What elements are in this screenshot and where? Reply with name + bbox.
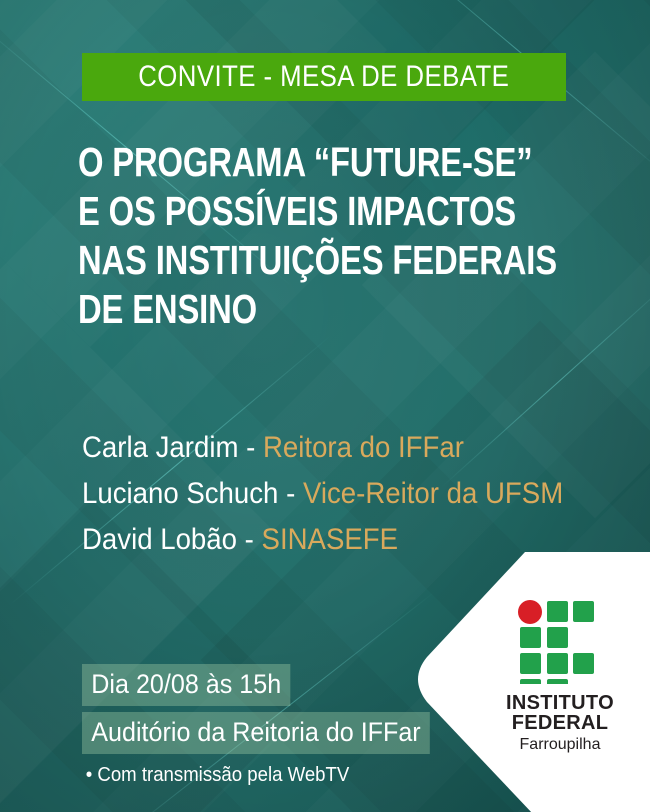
invite-banner: CONVITE - MESA DE DEBATE	[82, 53, 566, 101]
speaker-separator: -	[278, 477, 303, 510]
speaker-role: Vice-Reitor da UFSM	[303, 477, 563, 510]
instituto-federal-mark-icon	[517, 600, 603, 684]
institution-logo: INSTITUTO FEDERAL Farroupilha	[490, 600, 630, 754]
speakers-list: Carla Jardim - Reitora do IFFar Luciano …	[82, 425, 622, 563]
title-line-1: O PROGRAMA “FUTURE-SE”	[78, 138, 494, 187]
speaker-row: Luciano Schuch - Vice-Reitor da UFSM	[82, 471, 579, 517]
page-title: O PROGRAMA “FUTURE-SE” E OS POSSÍVEIS IM…	[78, 138, 598, 334]
speaker-row: Carla Jardim - Reitora do IFFar	[82, 425, 579, 471]
speaker-separator: -	[238, 431, 263, 464]
invite-banner-label: CONVITE - MESA DE DEBATE	[138, 60, 509, 94]
speaker-name: David Lobão	[82, 523, 237, 556]
logo-text-farroupilha: Farroupilha	[490, 735, 630, 754]
title-line-2: E OS POSSÍVEIS IMPACTOS	[78, 187, 494, 236]
logo-text-instituto: INSTITUTO	[490, 693, 630, 713]
event-date: Dia 20/08 às 15h	[82, 664, 290, 706]
event-date-wrap: Dia 20/08 às 15h	[82, 664, 456, 706]
logo-text-federal: FEDERAL	[490, 713, 630, 733]
speaker-name: Luciano Schuch	[82, 477, 278, 510]
speaker-name: Carla Jardim	[82, 431, 238, 464]
event-place: Auditório da Reitoria do IFFar	[82, 712, 430, 754]
poster-canvas: CONVITE - MESA DE DEBATE O PROGRAMA “FUT…	[0, 0, 650, 812]
event-place-wrap: Auditório da Reitoria do IFFar	[82, 712, 456, 754]
title-line-4: DE ENSINO	[78, 285, 494, 334]
speaker-row: David Lobão - SINASEFE	[82, 517, 579, 563]
event-broadcast-note: • Com transmissão pela WebTV	[82, 762, 430, 788]
event-details: Dia 20/08 às 15h Auditório da Reitoria d…	[82, 664, 456, 788]
speaker-role: Reitora do IFFar	[263, 431, 464, 464]
title-line-3: NAS INSTITUIÇÕES FEDERAIS	[78, 236, 494, 285]
speaker-separator: -	[237, 523, 262, 556]
speaker-role: SINASEFE	[262, 523, 399, 556]
